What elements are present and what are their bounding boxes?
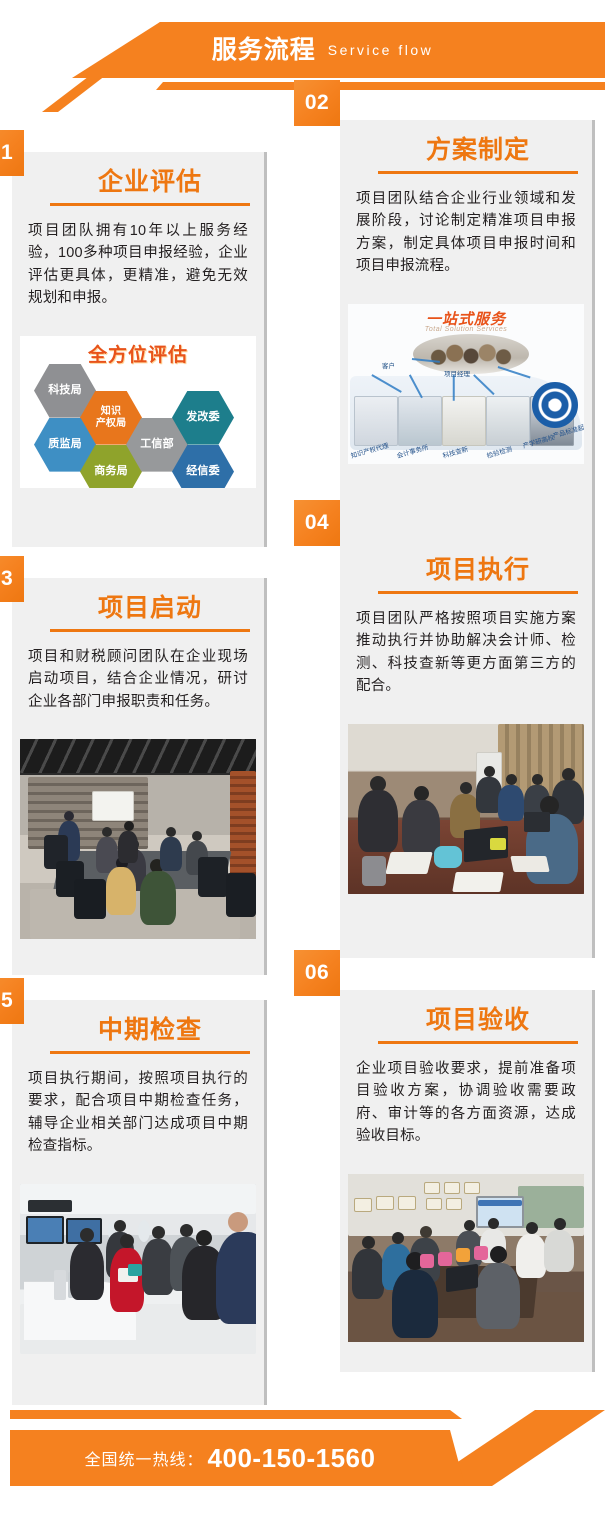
one-stop-label-customer: 客户 [382, 360, 395, 370]
card-title-01: 企业评估 [50, 164, 250, 206]
card-body-04: 项目团队严格按照项目实施方案推动执行并协助解决会计师、检测、科技查新等更方面第三… [354, 608, 578, 698]
card-figure-03 [20, 739, 256, 939]
footer-hotline-group: 全国统一热线： 400-150-1560 [10, 1430, 450, 1486]
one-stop-arrow-4 [453, 374, 455, 400]
card-number-badge-02: 02 [294, 80, 340, 126]
seal-label: ISO [548, 400, 562, 409]
card-content-02: 方案制定 项目团队结合企业行业领域和发展阶段，讨论制定精准项目申报方案，制定具体… [340, 120, 592, 292]
one-stop-center-photo [413, 334, 529, 374]
card-body-02: 项目团队结合企业行业领域和发展阶段，讨论制定精准项目申报方案，制定具体项目申报时… [354, 188, 578, 278]
one-stop-tile-2 [398, 396, 442, 446]
service-flow-page: 服务流程 Service flow 01 企业评估 项目团队拥有10年以上服务经… [0, 0, 605, 1538]
page-footer: 全国统一热线： 400-150-1560 [0, 1410, 605, 1520]
page-title: 服务流程 [212, 38, 316, 63]
card-content-03: 项目启动 项目和财税顾问团队在企业现场启动项目，结合企业情况，研讨企业各部门申报… [12, 578, 264, 727]
card-content-06: 项目验收 企业项目验收要求，提前准备项目验收方案，协调验收需要政府、审计等的各方… [340, 990, 592, 1162]
one-stop-tile-3 [442, 396, 486, 446]
card-body-01: 项目团队拥有10年以上服务经验，100多种项目申报经验，企业评估更具体，更精准，… [26, 220, 250, 310]
photo-meeting-room [20, 739, 256, 939]
one-stop-tile-1 [354, 396, 398, 446]
one-stop-seal-icon: ISO [532, 382, 578, 428]
card-figure-02: 一站式服务 Total Solution Services 客户 项目经理 [348, 304, 584, 464]
card-figure-06 [348, 1174, 584, 1342]
card-content-05: 中期检查 项目执行期间，按照项目执行的要求，配合项目中期检查任务，辅导企业相关部… [12, 1000, 264, 1172]
card-number-badge-06: 06 [294, 950, 340, 996]
hex-diagram: 全方位评估 科技局 知识 产权局 质监局 商务局 工信部 发改委 经信委 [20, 336, 256, 488]
page-subtitle: Service flow [328, 43, 433, 57]
card-body-06: 企业项目验收要求，提前准备项目验收方案，协调验收需要政府、审计等的各方面资源，达… [354, 1058, 578, 1148]
card-title-05: 中期检查 [50, 1012, 250, 1054]
one-stop-subtitle: Total Solution Services [425, 326, 507, 333]
card-number-badge-04: 04 [294, 500, 340, 546]
card-number-badge-03: 03 [0, 556, 24, 602]
one-stop-diagram: 一站式服务 Total Solution Services 客户 项目经理 [348, 304, 584, 464]
flow-card-02[interactable]: 02 方案制定 项目团队结合企业行业领域和发展阶段，讨论制定精准项目申报方案，制… [340, 120, 592, 545]
footer-hotline-number[interactable]: 400-150-1560 [208, 1443, 376, 1474]
photo-desk-meeting [348, 724, 584, 894]
card-figure-01: 全方位评估 科技局 知识 产权局 质监局 商务局 工信部 发改委 经信委 [20, 336, 256, 488]
card-title-02: 方案制定 [378, 132, 578, 174]
card-number-badge-05: 05 [0, 978, 24, 1024]
card-title-04: 项目执行 [378, 552, 578, 594]
card-title-03: 项目启动 [50, 590, 250, 632]
one-stop-label-manager: 项目经理 [444, 368, 470, 378]
header-title-group: 服务流程 Service flow [0, 22, 605, 78]
card-content-01: 企业评估 项目团队拥有10年以上服务经验，100多种项目申报经验，企业评估更具体… [12, 152, 264, 324]
flow-card-06[interactable]: 06 项目验收 企业项目验收要求，提前准备项目验收方案，协调验收需要政府、审计等… [340, 990, 592, 1372]
photo-showroom [20, 1184, 256, 1354]
hex-diagram-title: 全方位评估 [88, 340, 188, 367]
footer-hotline-label: 全国统一热线： [85, 1446, 204, 1470]
card-figure-05 [20, 1184, 256, 1354]
card-number-badge-01: 01 [0, 130, 24, 176]
flow-card-03[interactable]: 03 项目启动 项目和财税顾问团队在企业现场启动项目，结合企业情况，研讨企业各部… [12, 578, 264, 975]
one-stop-tile-4 [486, 396, 530, 446]
flow-card-04[interactable]: 04 项目执行 项目团队严格按照项目实施方案推动执行并协助解决会计师、检测、科技… [340, 540, 592, 958]
flow-card-01[interactable]: 01 企业评估 项目团队拥有10年以上服务经验，100多种项目申报经验，企业评估… [12, 152, 264, 547]
card-figure-04 [348, 724, 584, 894]
card-body-03: 项目和财税顾问团队在企业现场启动项目，结合企业情况，研讨企业各部门申报职责和任务… [26, 646, 250, 713]
card-content-04: 项目执行 项目团队严格按照项目实施方案推动执行并协助解决会计师、检测、科技查新等… [340, 540, 592, 712]
flow-card-05[interactable]: 05 中期检查 项目执行期间，按照项目执行的要求，配合项目中期检查任务，辅导企业… [12, 1000, 264, 1405]
photo-conference [348, 1174, 584, 1342]
card-title-06: 项目验收 [378, 1002, 578, 1044]
card-body-05: 项目执行期间，按照项目执行的要求，配合项目中期检查任务，辅导企业相关部门达成项目… [26, 1068, 250, 1158]
footer-orange-stripe [10, 1410, 605, 1419]
